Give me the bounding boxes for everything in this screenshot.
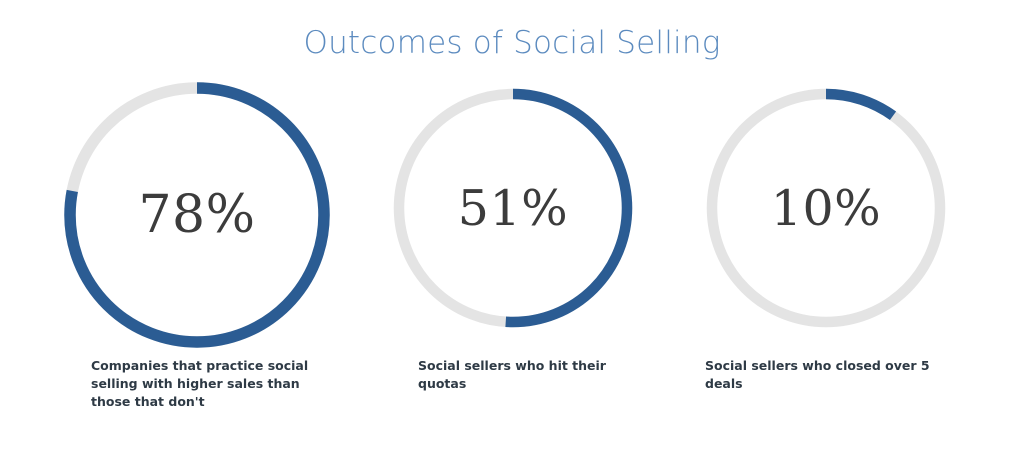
chart-title: Outcomes of Social Selling — [0, 25, 1024, 61]
donut-cell-1: 78% — [64, 82, 330, 348]
donut-track-3 — [712, 94, 940, 322]
donut-chart-3: 10% — [706, 88, 946, 328]
donut-cell-3: 10% — [706, 82, 946, 328]
donut-chart-2: 51% — [393, 88, 633, 328]
donut-cell-2: 51% — [393, 82, 633, 328]
donut-svg-2 — [393, 88, 633, 328]
donut-caption-3: Social sellers who closed over 5 deals — [705, 357, 955, 393]
donut-chart-row: 78% 51% 10% — [0, 82, 1024, 372]
donut-caption-2: Social sellers who hit their quotas — [418, 357, 638, 393]
infographic-root: Outcomes of Social Selling 78% 51% — [0, 0, 1024, 451]
caption-row: Companies that practice social selling w… — [0, 357, 1024, 427]
donut-caption-1: Companies that practice social selling w… — [91, 357, 336, 410]
donut-chart-1: 78% — [64, 82, 330, 348]
donut-svg-3 — [706, 88, 946, 328]
donut-svg-1 — [64, 82, 330, 348]
